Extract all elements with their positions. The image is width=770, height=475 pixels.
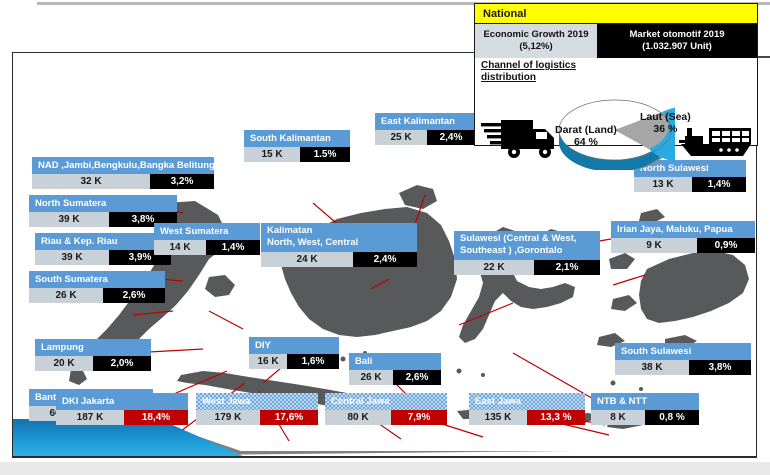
region-value: 8 K [591, 410, 645, 425]
region-percent: 2,6% [393, 370, 441, 385]
region-label: Lampung [35, 339, 151, 356]
region-values: 179 K 17,6% [196, 410, 318, 425]
region-values: 38 K 3,8% [615, 360, 751, 375]
region-percent: 3,8% [689, 360, 751, 375]
region-label: Sulawesi (Central & West, Southeast ) ,G… [454, 231, 600, 260]
region-label: South Sulawesi [615, 343, 751, 360]
region-box-kalimatan-north-west-central[interactable]: Kalimatan North, West, Central 24 K 2,4% [261, 223, 417, 267]
national-title: National [475, 4, 757, 24]
slide-bottom-edge [12, 456, 757, 458]
region-percent: 1,6% [287, 354, 339, 369]
region-values: 25 K 2,4% [375, 130, 475, 145]
region-values: 39 K 3,9% [35, 250, 171, 265]
channel-title-line1: Channel of logistics [481, 60, 595, 72]
region-box-nad-jambi-bengkulu-bangka-belitung[interactable]: NAD ,Jambi,Bengkulu,Bangka Belitung 32 K… [32, 157, 214, 189]
region-values: 32 K 3,2% [32, 174, 214, 189]
region-value: 187 K [56, 410, 124, 425]
region-label-line1: Kalimatan [267, 225, 412, 237]
region-label: West Sumatera [154, 223, 260, 240]
region-values: 135 K 13,3 % [469, 410, 585, 425]
market-value: (1.032.907 Unit) [597, 41, 757, 53]
region-values: 16 K 1,6% [249, 354, 339, 369]
region-value: 32 K [32, 174, 150, 189]
region-label: DKI Jakarta [56, 393, 188, 410]
region-value: 22 K [454, 260, 534, 275]
region-percent: 2,6% [103, 288, 165, 303]
region-value: 13 K [634, 177, 692, 192]
region-values: 24 K 2,4% [261, 252, 417, 267]
region-percent: 2,0% [93, 356, 151, 371]
national-summary-panel: National Economic Growth 2019 (5,12%) Ma… [474, 3, 758, 146]
region-values: 187 K 18,4% [56, 410, 188, 425]
region-label: East Jawa [469, 393, 585, 410]
slide-canvas: NAD ,Jambi,Bengkulu,Bangka Belitung 32 K… [0, 0, 770, 475]
region-box-central-jawa[interactable]: Central Jawa 80 K 7,9% [325, 393, 447, 425]
region-values: 20 K 2,0% [35, 356, 151, 371]
national-kpi-row: Economic Growth 2019 (5,12%) Market otom… [475, 24, 757, 58]
region-label: NTB & NTT [591, 393, 699, 410]
region-label: Central Jawa [325, 393, 447, 410]
region-box-south-sulawesi[interactable]: South Sulawesi 38 K 3,8% [615, 343, 751, 375]
market-label: Market otomotif 2019 [597, 29, 757, 41]
region-values: 14 K 1,4% [154, 240, 260, 255]
region-box-east-kalimantan[interactable]: East Kalimantan 25 K 2,4% [375, 113, 475, 145]
region-values: 26 K 2,6% [29, 288, 165, 303]
region-values: 15 K 1.5% [244, 147, 350, 162]
region-label: NAD ,Jambi,Bengkulu,Bangka Belitung [32, 157, 214, 174]
ship-icon [679, 114, 753, 165]
truck-icon [481, 114, 559, 165]
region-label: South Sumatera [29, 271, 165, 288]
region-values: 13 K 1,4% [634, 177, 746, 192]
pie-label-sea-value: 36 % [653, 123, 677, 135]
region-label: Kalimatan North, West, Central [261, 223, 417, 252]
region-percent: 3,2% [150, 174, 214, 189]
region-value: 39 K [35, 250, 109, 265]
region-box-riau-kep-riau[interactable]: Riau & Kep. Riau 39 K 3,9% [35, 233, 171, 265]
pie-label-land-text: Darat (Land) [555, 124, 617, 136]
region-percent: 18,4% [124, 410, 188, 425]
region-value: 24 K [261, 252, 353, 267]
region-percent: 17,6% [260, 410, 318, 425]
economic-growth-value: (5,12%) [475, 41, 597, 53]
region-values: 8 K 0,8 % [591, 410, 699, 425]
region-percent: 1.5% [300, 147, 350, 162]
region-box-south-sumatera[interactable]: South Sumatera 26 K 2,6% [29, 271, 165, 303]
region-values: 9 K 0,9% [611, 238, 755, 253]
region-box-sulawesi-central-west-southeast-gorontalo[interactable]: Sulawesi (Central & West, Southeast ) ,G… [454, 231, 600, 275]
region-value: 179 K [196, 410, 260, 425]
region-label: East Kalimantan [375, 113, 475, 130]
region-label: South Kalimantan [244, 130, 350, 147]
region-label: DIY [249, 337, 339, 354]
region-value: 26 K [349, 370, 393, 385]
region-box-south-kalimantan[interactable]: South Kalimantan 15 K 1.5% [244, 130, 350, 162]
region-box-west-sumatera[interactable]: West Sumatera 14 K 1,4% [154, 223, 260, 255]
economic-growth-card: Economic Growth 2019 (5,12%) [475, 24, 597, 58]
region-label-line2: Southeast ) ,Gorontalo [460, 245, 595, 257]
region-percent: 13,3 % [527, 410, 585, 425]
channel-title: Channel of logistics distribution [475, 58, 595, 84]
region-label: West Jawa [196, 393, 318, 410]
region-value: 20 K [35, 356, 93, 371]
economic-growth-label: Economic Growth 2019 [475, 29, 597, 41]
logistics-chart-area: Darat (Land) 64 % Laut (Sea) 36 % [475, 84, 757, 171]
region-percent: 1,4% [692, 177, 746, 192]
region-percent: 1,4% [206, 240, 260, 255]
region-value: 135 K [469, 410, 527, 425]
region-percent: 2,4% [427, 130, 475, 145]
page-bottom-strip [0, 462, 770, 475]
region-box-bali[interactable]: Bali 26 K 2,6% [349, 353, 441, 385]
region-value: 15 K [244, 147, 300, 162]
region-value: 14 K [154, 240, 206, 255]
pie-label-land-value: 64 % [574, 136, 598, 148]
region-box-irian-jaya-maluku-papua[interactable]: Irian Jaya, Maluku, Papua 9 K 0,9% [611, 221, 755, 253]
region-box-dki-jakarta[interactable]: DKI Jakarta 187 K 18,4% [56, 393, 188, 425]
region-percent: 2,1% [534, 260, 600, 275]
market-otomotif-card: Market otomotif 2019 (1.032.907 Unit) [597, 24, 757, 58]
region-value: 25 K [375, 130, 427, 145]
region-value: 9 K [611, 238, 697, 253]
region-box-lampung[interactable]: Lampung 20 K 2,0% [35, 339, 151, 371]
panel-connector-line [758, 56, 770, 58]
region-value: 38 K [615, 360, 689, 375]
region-label: North Sumatera [29, 195, 177, 212]
pie-label-land: Darat (Land) 64 % [555, 124, 617, 148]
region-box-ntb-ntt[interactable]: NTB & NTT 8 K 0,8 % [591, 393, 699, 425]
region-percent: 7,9% [391, 410, 447, 425]
region-value: 80 K [325, 410, 391, 425]
region-value: 16 K [249, 354, 287, 369]
channel-title-line2: distribution [481, 72, 595, 84]
region-values: 80 K 7,9% [325, 410, 447, 425]
region-values: 22 K 2,1% [454, 260, 600, 275]
region-box-east-jawa[interactable]: East Jawa 135 K 13,3 % [469, 393, 585, 425]
region-label-line1: Sulawesi (Central & West, [460, 233, 595, 245]
region-value: 26 K [29, 288, 103, 303]
region-box-diy[interactable]: DIY 16 K 1,6% [249, 337, 339, 369]
region-label-line2: North, West, Central [267, 237, 412, 249]
region-value: 39 K [29, 212, 109, 227]
region-label: Irian Jaya, Maluku, Papua [611, 221, 755, 238]
region-percent: 2,4% [353, 252, 417, 267]
region-values: 26 K 2,6% [349, 370, 441, 385]
region-percent: 0,8 % [645, 410, 699, 425]
region-label: Riau & Kep. Riau [35, 233, 171, 250]
region-box-west-jawa[interactable]: West Jawa 179 K 17,6% [196, 393, 318, 425]
region-label: Bali [349, 353, 441, 370]
region-percent: 0,9% [697, 238, 755, 253]
